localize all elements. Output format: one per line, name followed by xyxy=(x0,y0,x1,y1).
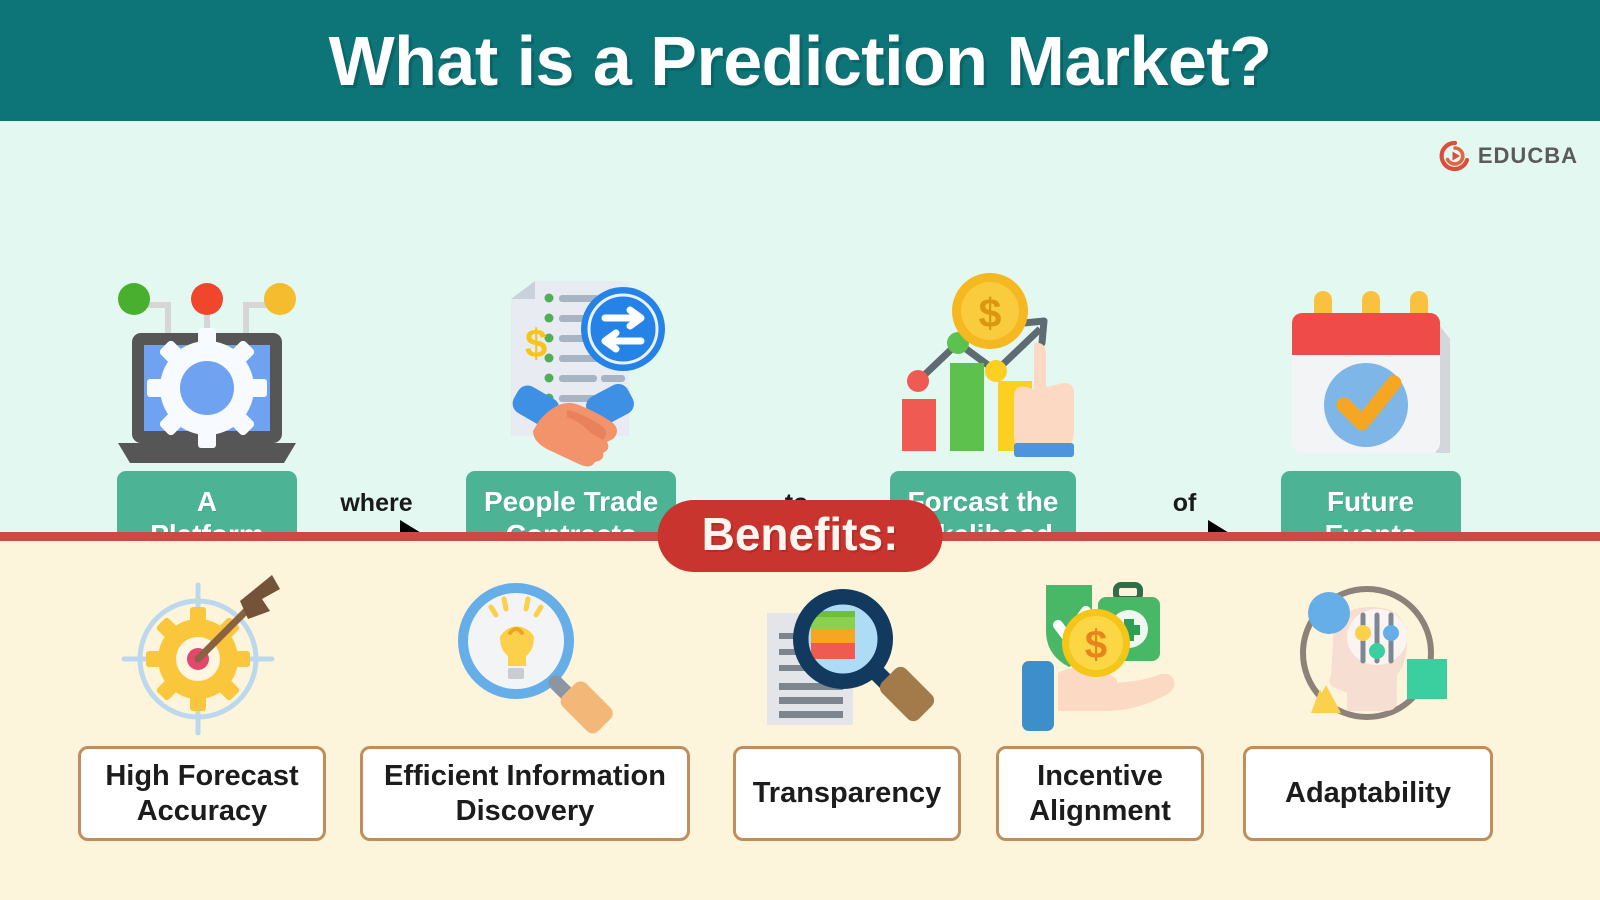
flow-label-line1: Future xyxy=(1327,486,1414,517)
bar-chart-coin-hand-icon: $ xyxy=(888,271,1078,471)
benefits-row: High Forecast Accuracy xyxy=(0,541,1600,900)
calendar-check-icon xyxy=(1278,271,1463,471)
svg-text:$: $ xyxy=(1085,623,1107,667)
flow-section: EDUCBA xyxy=(0,121,1600,538)
benefit-item-transparency[interactable]: Transparency xyxy=(733,566,961,841)
flow-label-line1: A xyxy=(197,486,217,517)
infographic-page: What is a Prediction Market? EDUCBA xyxy=(0,0,1600,900)
connector-where-label: where xyxy=(340,489,412,518)
benefit-label-line2: Discovery xyxy=(456,795,595,827)
magnifier-document-chart-icon xyxy=(757,566,937,746)
benefit-label-line2: Accuracy xyxy=(137,795,268,827)
connector-of-label: of xyxy=(1173,489,1197,518)
benefit-label-line1: Adaptability xyxy=(1285,776,1451,811)
laptop-gear-icon xyxy=(112,271,302,471)
magnifier-lightbulb-icon xyxy=(440,566,610,746)
benefit-label-high-forecast-accuracy: High Forecast Accuracy xyxy=(78,746,326,841)
benefits-section: High Forecast Accuracy xyxy=(0,541,1600,900)
benefit-item-incentive-alignment[interactable]: $ Incentive Alignment xyxy=(996,566,1204,841)
target-arrow-gear-icon xyxy=(122,566,282,746)
flow-row: A Platform where xyxy=(0,121,1600,538)
benefit-label-efficient-information-discovery: Efficient Information Discovery xyxy=(360,746,690,841)
benefit-label-transparency: Transparency xyxy=(733,746,961,841)
benefit-label-incentive-alignment: Incentive Alignment xyxy=(996,746,1204,841)
hand-coin-shield-icon: $ xyxy=(1010,566,1190,746)
svg-text:$: $ xyxy=(979,290,1002,336)
header-bar: What is a Prediction Market? xyxy=(0,0,1600,121)
flow-step-events[interactable]: Future Events xyxy=(1278,271,1463,565)
benefit-item-adaptability[interactable]: Adaptability xyxy=(1243,566,1493,841)
benefit-label-line2: Alignment xyxy=(1029,795,1171,827)
flow-step-trade[interactable]: $ People Trade xyxy=(466,271,676,565)
benefit-label-line1: High Forecast xyxy=(105,760,298,792)
handshake-contract-icon: $ xyxy=(471,271,671,471)
benefits-badge: Benefits: xyxy=(658,500,943,572)
page-title: What is a Prediction Market? xyxy=(329,21,1272,101)
flow-step-platform[interactable]: A Platform xyxy=(112,271,302,565)
flow-label-line1: People Trade xyxy=(484,486,658,517)
benefit-label-line1: Efficient Information xyxy=(384,760,666,792)
head-sliders-shapes-icon xyxy=(1281,566,1456,746)
benefit-label-line1: Transparency xyxy=(753,776,942,811)
benefit-label-line1: Incentive xyxy=(1037,760,1163,792)
benefit-item-high-forecast-accuracy[interactable]: High Forecast Accuracy xyxy=(78,566,326,841)
svg-text:$: $ xyxy=(525,322,547,366)
benefit-label-adaptability: Adaptability xyxy=(1243,746,1493,841)
benefit-item-efficient-information-discovery[interactable]: Efficient Information Discovery xyxy=(360,566,690,841)
